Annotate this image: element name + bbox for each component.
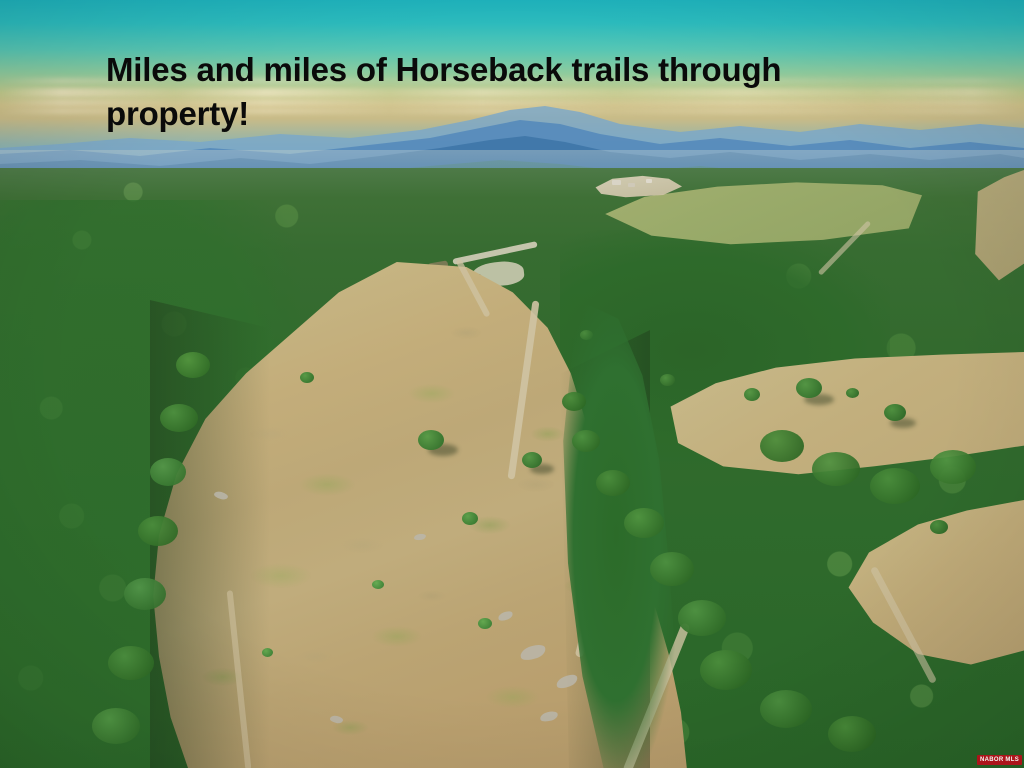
caption-overlay: Miles and miles of Horseback trails thro… <box>106 48 906 136</box>
forest-canopy <box>828 716 876 752</box>
mls-watermark-badge: NABOR MLS <box>977 755 1022 765</box>
pasture-tree <box>884 404 906 421</box>
treeline-canopy <box>596 470 630 496</box>
field-shrub <box>478 618 492 629</box>
forest-canopy <box>812 452 860 486</box>
pasture-tree <box>846 388 859 398</box>
forest-canopy <box>138 516 178 546</box>
pasture-tree <box>796 378 822 398</box>
field-shrub <box>300 372 314 383</box>
pasture-tree <box>660 374 675 386</box>
forest-canopy <box>150 458 186 486</box>
treeline-canopy <box>700 650 752 690</box>
distant-structure <box>612 180 621 185</box>
treeline-canopy <box>678 600 726 636</box>
forest-canopy <box>108 646 154 680</box>
field-shrub <box>462 512 478 525</box>
field-tree <box>418 430 444 450</box>
forest-canopy <box>760 430 804 462</box>
field-tree <box>522 452 542 468</box>
treeline-canopy <box>572 430 600 452</box>
treeline-canopy <box>650 552 694 586</box>
treeline-canopy <box>624 508 664 538</box>
pasture-tree <box>930 520 948 534</box>
forest-canopy <box>760 690 812 728</box>
distant-structure <box>646 179 652 183</box>
distant-structure <box>628 183 635 187</box>
field-shrub <box>262 648 273 657</box>
forest-canopy <box>930 450 976 484</box>
aerial-property-photo: Miles and miles of Horseback trails thro… <box>0 0 1024 768</box>
treeline-canopy <box>562 392 586 411</box>
forest-canopy <box>160 404 198 432</box>
caption-line-2: property! <box>106 95 249 132</box>
forest-canopy <box>92 708 140 744</box>
field-shrub <box>372 580 384 589</box>
forest-canopy <box>124 578 166 610</box>
forest-canopy <box>176 352 210 378</box>
caption-line-1: Miles and miles of Horseback trails thro… <box>106 51 781 88</box>
forest-canopy <box>870 468 920 504</box>
pasture-tree <box>744 388 760 401</box>
